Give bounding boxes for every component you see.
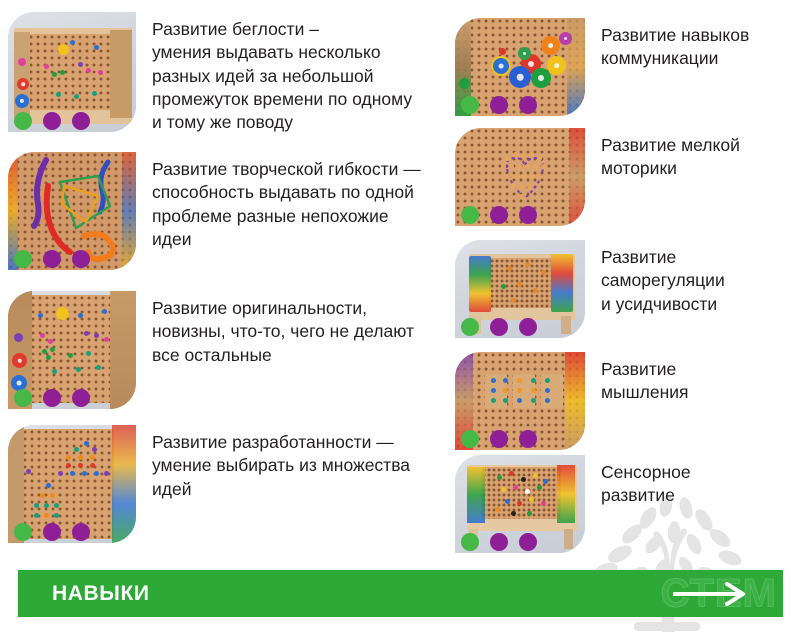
image-thinking	[455, 352, 585, 450]
image-creative-flexibility	[8, 152, 136, 270]
dot-purple	[43, 389, 61, 407]
dot-purple	[72, 250, 90, 268]
skill-row-self-regulation: Развитие саморегуляции и усидчивости	[455, 240, 725, 338]
thumbnail-wrapper	[8, 12, 136, 132]
dot-group	[14, 112, 90, 130]
image-elaboration	[8, 425, 136, 543]
dot-green	[14, 250, 32, 268]
dot-purple	[490, 96, 508, 114]
skill-row-elaboration: Развитие разработанности — умение выбира…	[8, 425, 410, 543]
thumbnail-wrapper	[455, 455, 585, 553]
image-sensory	[455, 455, 585, 553]
caption-fluency: Развитие беглости – умения выдавать неск…	[152, 18, 412, 134]
dot-green	[14, 389, 32, 407]
image-fluency	[8, 12, 136, 132]
dot-green	[461, 318, 479, 336]
image-self-regulation	[455, 240, 585, 338]
dot-purple	[72, 112, 90, 130]
image-fine-motor	[455, 128, 585, 226]
dot-purple	[490, 430, 508, 448]
dot-purple	[43, 250, 61, 268]
thumbnail-wrapper	[8, 152, 136, 270]
thumbnail-wrapper	[455, 128, 585, 226]
caption-self-regulation: Развитие саморегуляции и усидчивости	[601, 246, 725, 316]
thumbnail-wrapper	[455, 240, 585, 338]
caption-originality: Развитие оригинальности, новизны, что-то…	[152, 297, 414, 367]
dot-green	[14, 523, 32, 541]
caption-fine-motor: Развитие мелкой моторики	[601, 134, 740, 181]
dot-purple	[72, 523, 90, 541]
caption-communication: Развитие навыков коммуникации	[601, 24, 749, 71]
dot-group	[461, 206, 537, 224]
thumbnail-wrapper	[8, 291, 136, 409]
dot-green	[461, 430, 479, 448]
image-communication	[455, 18, 585, 116]
banner-label: НАВЫКИ	[52, 582, 150, 606]
dot-purple	[519, 430, 537, 448]
dot-purple	[43, 112, 61, 130]
skill-row-fluency: Развитие беглости – умения выдавать неск…	[8, 12, 412, 134]
skill-row-fine-motor: Развитие мелкой моторики	[455, 128, 740, 226]
caption-elaboration: Развитие разработанности — умение выбира…	[152, 431, 410, 501]
dot-green	[461, 533, 479, 551]
dot-purple	[490, 318, 508, 336]
dot-purple	[490, 533, 508, 551]
dot-group	[461, 318, 537, 336]
caption-creative-flexibility: Развитие творческой гибкости — способнос…	[152, 158, 421, 251]
skill-row-sensory: Сенсорное развитие	[455, 455, 691, 553]
skill-row-thinking: Развитие мышления	[455, 352, 689, 450]
skill-row-originality: Развитие оригинальности, новизны, что-то…	[8, 291, 414, 409]
dot-group	[14, 389, 90, 407]
caption-sensory: Сенсорное развитие	[601, 461, 691, 508]
dot-group	[14, 523, 90, 541]
dot-group	[461, 96, 537, 114]
skills-banner: СТЕМ НАВЫКИ	[18, 570, 783, 617]
dot-green	[461, 206, 479, 224]
dot-purple	[43, 523, 61, 541]
caption-thinking: Развитие мышления	[601, 358, 689, 405]
dot-purple	[519, 318, 537, 336]
dot-group	[461, 533, 537, 551]
dot-green	[461, 96, 479, 114]
infographic-page: Развитие беглости – умения выдавать неск…	[0, 0, 800, 640]
skill-row-creative-flexibility: Развитие творческой гибкости — способнос…	[8, 152, 421, 270]
arrow-right-icon	[673, 582, 755, 606]
dot-purple	[519, 96, 537, 114]
skill-row-communication: Развитие навыков коммуникации	[455, 18, 749, 116]
dot-purple	[519, 533, 537, 551]
thumbnail-wrapper	[455, 352, 585, 450]
dot-purple	[490, 206, 508, 224]
thumbnail-wrapper	[455, 18, 585, 116]
dot-green	[14, 112, 32, 130]
dot-group	[14, 250, 90, 268]
dot-purple	[519, 206, 537, 224]
image-originality	[8, 291, 136, 409]
dot-group	[461, 430, 537, 448]
thumbnail-wrapper	[8, 425, 136, 543]
dot-purple	[72, 389, 90, 407]
